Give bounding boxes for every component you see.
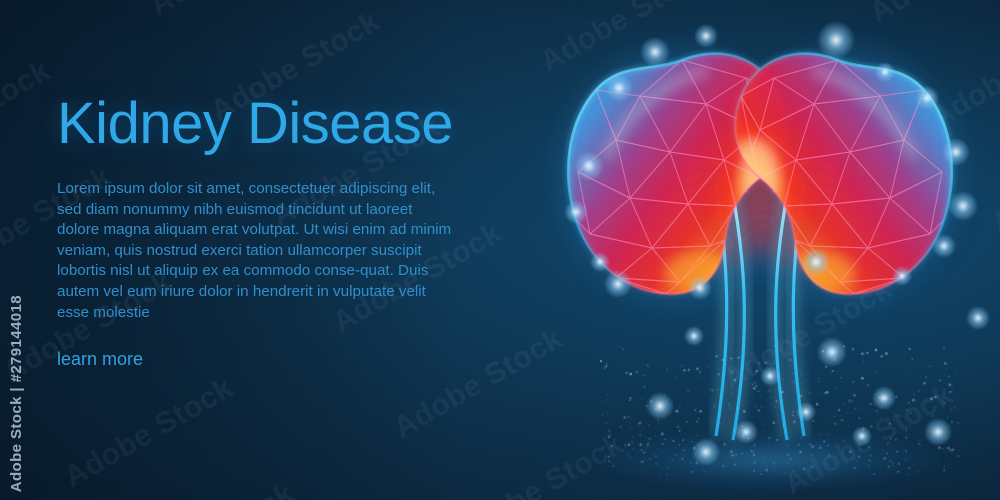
learn-more-link[interactable]: learn more [57, 349, 143, 370]
stock-credit-watermark: Adobe Stock | #279144018 [8, 295, 25, 492]
page-title: Kidney Disease [57, 95, 487, 153]
copy-block: Kidney Disease Lorem ipsum dolor sit ame… [57, 95, 487, 370]
body-paragraph: Lorem ipsum dolor sit amet, consectetuer… [57, 179, 457, 323]
kidney-illustration [520, 0, 1000, 500]
poster-canvas: Adobe StockAdobe StockAdobe StockAdobe S… [0, 0, 1000, 500]
